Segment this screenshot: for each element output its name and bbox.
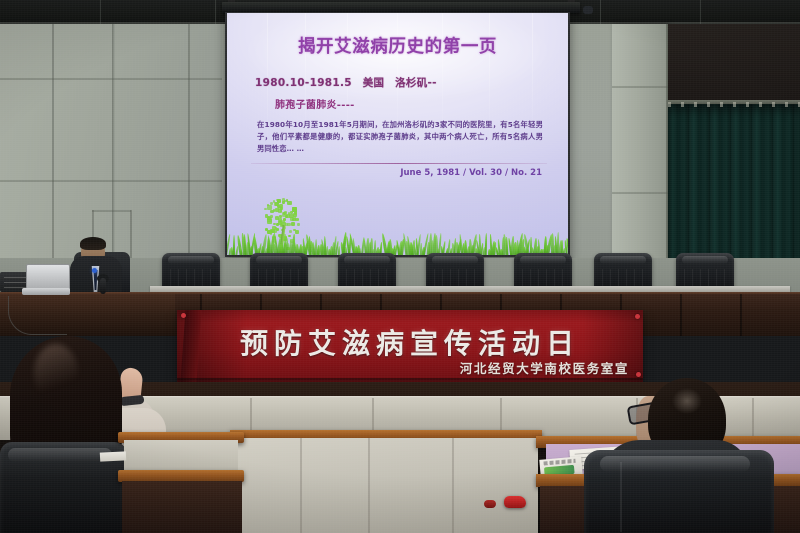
tree-leaf bbox=[297, 223, 300, 226]
tree-leaf bbox=[278, 221, 282, 225]
curtain-recess bbox=[668, 24, 800, 104]
speaker-hair bbox=[80, 237, 106, 250]
ceiling-seam bbox=[215, 0, 216, 26]
slide-subheading-date: 1980.10-1981.5 美国 洛杉矶-- bbox=[255, 75, 545, 90]
wall-panel-seam bbox=[0, 180, 222, 182]
slide-title: 揭开艾滋病历史的第一页 bbox=[227, 33, 568, 58]
audience-desk-panel bbox=[238, 438, 538, 533]
ceiling-seam bbox=[100, 0, 101, 26]
ceiling-seam bbox=[700, 0, 701, 26]
screen-roller-knob[interactable] bbox=[583, 6, 593, 14]
tree-leaf bbox=[265, 214, 269, 218]
chair-seam bbox=[620, 462, 622, 532]
tree-leaf bbox=[275, 208, 279, 212]
laptop-keyboard[interactable] bbox=[22, 288, 70, 295]
tree-leaf bbox=[293, 209, 296, 212]
banner-tie bbox=[181, 313, 186, 318]
attendee-right-hair-sheen bbox=[672, 388, 702, 414]
chair-highlight bbox=[600, 456, 750, 472]
tree-leaf bbox=[291, 222, 295, 226]
wall-access-door bbox=[92, 210, 131, 212]
presentation-slide: 揭开艾滋病历史的第一页 1980.10-1981.5 美国 洛杉矶-- 肺孢子菌… bbox=[227, 13, 568, 255]
attendee-left-hair-sheen bbox=[34, 344, 78, 402]
slide-subheading-disease: 肺孢子菌肺炎---- bbox=[275, 96, 555, 111]
grass-illustration bbox=[227, 227, 568, 255]
power-cable bbox=[8, 296, 67, 335]
tree-leaf bbox=[282, 212, 287, 217]
tree-leaf bbox=[292, 218, 296, 222]
speaker-badge-icon bbox=[92, 268, 97, 273]
desk-microphone[interactable] bbox=[100, 278, 106, 294]
projection-screen: 揭开艾滋病历史的第一页 1980.10-1981.5 美国 洛杉矶-- 肺孢子菌… bbox=[227, 13, 568, 255]
column-seam bbox=[612, 86, 668, 88]
tree-leaf bbox=[274, 202, 278, 206]
slide-body-text: 在1980年10月至1981年5月期间，在加州洛杉矶的3家不同的医院里，有5名年… bbox=[257, 119, 543, 155]
banner-tie bbox=[636, 372, 641, 377]
red-object[interactable] bbox=[504, 496, 526, 508]
tree-leaf bbox=[283, 218, 286, 221]
banner-title: 预防艾滋病宣传活动日 bbox=[177, 322, 643, 362]
curtain-hooks bbox=[668, 102, 800, 107]
slide-divider bbox=[251, 163, 547, 164]
tree-leaf bbox=[267, 219, 272, 224]
banner-tie bbox=[635, 314, 640, 319]
tree-leaf bbox=[267, 205, 272, 210]
banner-subtitle: 河北经贸大学南校医务室宣 bbox=[177, 358, 629, 377]
tree-leaf bbox=[273, 223, 276, 226]
red-object[interactable] bbox=[484, 500, 496, 508]
column-seam bbox=[612, 192, 668, 194]
tree-leaf bbox=[286, 199, 289, 202]
desk-reflection bbox=[268, 492, 388, 518]
audience-desk-front bbox=[122, 481, 242, 533]
event-banner: 预防艾滋病宣传活动日 河北经贸大学南校医务室宣 bbox=[177, 310, 643, 382]
tree-leaf bbox=[282, 201, 285, 204]
wall-panel-seam bbox=[0, 78, 222, 80]
slide-citation: June 5, 1981 / Vol. 30 / No. 21 bbox=[227, 168, 542, 178]
handout-paper[interactable] bbox=[100, 451, 126, 461]
tree-leaf bbox=[264, 208, 267, 211]
lecture-hall-photo: 揭开艾滋病历史的第一页 1980.10-1981.5 美国 洛杉矶-- 肺孢子菌… bbox=[0, 0, 800, 533]
chair-highlight bbox=[8, 448, 112, 462]
ceiling-seam bbox=[600, 0, 601, 26]
